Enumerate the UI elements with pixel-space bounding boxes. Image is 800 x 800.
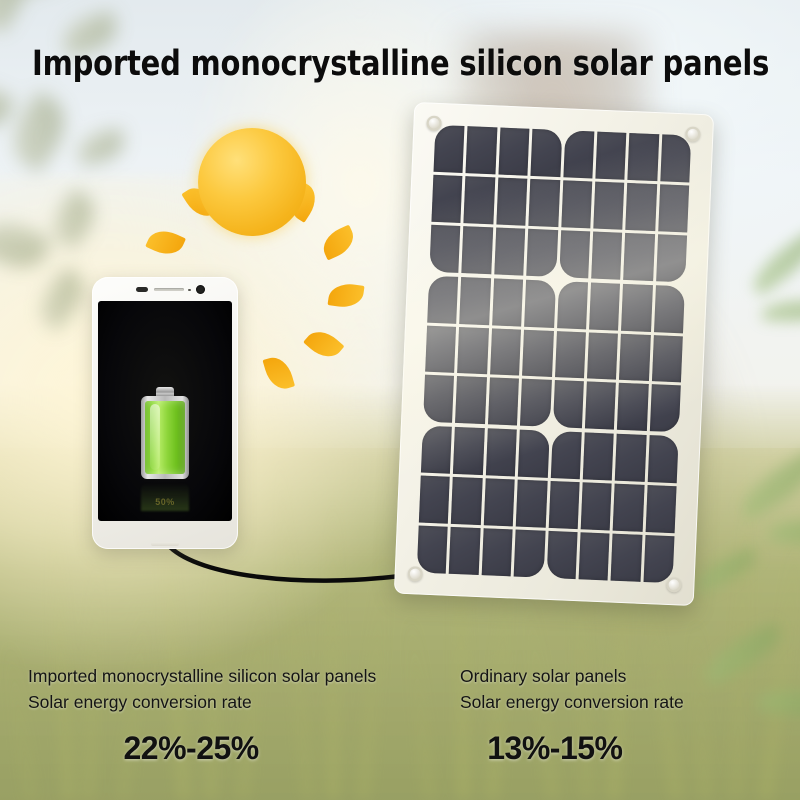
comparison-right-name: Ordinary solar panels <box>460 664 684 690</box>
solar-cell <box>578 532 609 580</box>
solar-cell <box>559 230 590 278</box>
solar-cell <box>488 378 519 426</box>
solar-cell <box>528 179 559 227</box>
solar-cell <box>429 225 460 273</box>
battery-body <box>141 396 189 479</box>
solar-cell <box>481 528 512 576</box>
solar-cell <box>516 480 547 528</box>
comparison-right-metric: Solar energy conversion rate <box>460 690 684 716</box>
solar-cell <box>654 285 685 333</box>
smartphone: 50% <box>92 277 238 549</box>
phone-top-bezel <box>92 277 238 301</box>
earpiece-speaker-icon <box>154 288 184 291</box>
solar-cell <box>484 478 515 526</box>
comparison-left-rate: 22%-25% <box>28 730 376 767</box>
sun-ray <box>145 225 186 261</box>
solar-cell <box>623 233 654 281</box>
comparison-right: Ordinary solar panels Solar energy conve… <box>460 664 684 767</box>
proximity-sensor-icon <box>136 287 148 292</box>
solar-cell <box>526 229 557 277</box>
solar-cell <box>649 385 680 433</box>
comparison-block: Imported monocrystalline silicon solar p… <box>0 650 800 800</box>
solar-cell <box>563 130 594 178</box>
solar-cell <box>423 375 454 423</box>
solar-cell <box>660 134 691 182</box>
solar-cell <box>561 180 592 228</box>
solar-cell-block <box>429 125 691 282</box>
solar-cell <box>419 476 450 524</box>
solar-cell <box>457 327 488 375</box>
solar-cell <box>431 175 462 223</box>
solar-cell <box>621 284 652 332</box>
solar-cell <box>548 481 579 529</box>
sun-icon <box>152 82 352 282</box>
solar-cell <box>492 278 523 326</box>
solar-cell <box>643 535 674 583</box>
solar-cell-block <box>423 275 685 432</box>
solar-cell <box>522 329 553 377</box>
page-title: Imported monocrystalline silicon solar p… <box>32 44 768 84</box>
solar-cell <box>498 128 529 176</box>
phone-screen: 50% <box>98 301 232 521</box>
solar-cell <box>585 382 616 430</box>
solar-cell <box>617 383 648 431</box>
solar-cell <box>593 181 624 229</box>
solar-cell <box>645 485 676 533</box>
solar-cell-block <box>417 426 679 583</box>
solar-cell <box>531 129 562 177</box>
product-banner: Imported monocrystalline silicon solar p… <box>0 0 800 800</box>
solar-cell <box>464 176 495 224</box>
battery-icon <box>141 387 189 479</box>
solar-cell <box>449 527 480 575</box>
battery-percent-label: 50% <box>98 497 232 507</box>
solar-cell <box>581 483 612 531</box>
solar-cell <box>583 433 614 481</box>
solar-cell <box>427 275 458 323</box>
solar-cell <box>490 328 521 376</box>
front-camera-icon <box>196 285 205 294</box>
solar-cell <box>615 434 646 482</box>
foliage-leaf <box>30 265 93 331</box>
solar-cell <box>557 281 588 329</box>
solar-cell <box>652 335 683 383</box>
solar-cell <box>494 227 525 275</box>
solar-cell <box>453 427 484 475</box>
solar-cell <box>656 234 687 282</box>
solar-cell <box>658 184 689 232</box>
foliage-leaf <box>0 212 53 278</box>
comparison-left: Imported monocrystalline silicon solar p… <box>28 664 376 767</box>
solar-cell <box>626 183 657 231</box>
solar-cell <box>619 333 650 381</box>
solar-cell <box>421 426 452 474</box>
solar-cell <box>451 477 482 525</box>
solar-cell <box>466 126 497 174</box>
light-sensor-icon <box>188 289 191 292</box>
battery-gloss <box>150 404 160 470</box>
solar-cell <box>550 431 581 479</box>
solar-cell-grid <box>417 125 692 583</box>
comparison-right-rate: 13%-15% <box>460 730 684 767</box>
foliage-leaf <box>74 127 128 167</box>
solar-cell <box>628 133 659 181</box>
solar-panel <box>394 102 714 606</box>
solar-cell <box>611 534 642 582</box>
solar-cell <box>434 125 465 173</box>
solar-cell <box>647 435 678 483</box>
solar-panel-frame <box>394 102 714 606</box>
comparison-left-name: Imported monocrystalline silicon solar p… <box>28 664 376 690</box>
foliage-leaf <box>0 76 15 135</box>
solar-cell <box>462 226 493 274</box>
foliage-leaf <box>44 187 104 250</box>
solar-cell <box>613 484 644 532</box>
solar-cell <box>520 379 551 427</box>
solar-cell <box>589 282 620 330</box>
solar-cell <box>417 526 448 574</box>
solar-cell <box>518 430 549 478</box>
solar-cell <box>552 380 583 428</box>
foliage-leaf <box>0 0 38 34</box>
solar-cell <box>486 429 517 477</box>
home-button-icon <box>151 542 179 546</box>
sun-disc <box>198 128 306 236</box>
comparison-left-metric: Solar energy conversion rate <box>28 690 376 716</box>
solar-cell <box>425 325 456 373</box>
phone-bottom-bezel <box>92 521 238 549</box>
solar-cell <box>496 177 527 225</box>
solar-cell <box>555 331 586 379</box>
solar-cell <box>460 277 491 325</box>
solar-cell <box>546 531 577 579</box>
solar-cell <box>591 231 622 279</box>
solar-cell <box>514 530 545 578</box>
solar-cell <box>455 376 486 424</box>
solar-cell <box>595 132 626 180</box>
solar-cell <box>524 279 555 327</box>
solar-cell <box>587 332 618 380</box>
